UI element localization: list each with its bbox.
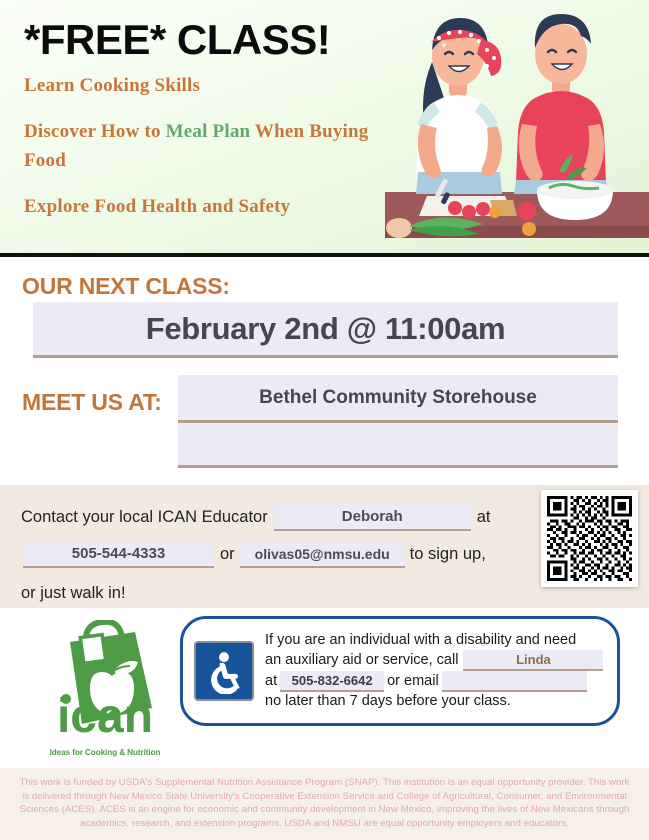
flyer-page: *FREE* CLASS! Learn Cooking Skills Disco… [0,0,649,840]
benefit-item-1: Learn Cooking Skills [24,72,374,101]
contact-walkin-text: or just walk in! [21,585,126,602]
a11y-text-3: at [265,672,277,691]
qr-code[interactable] [541,490,638,587]
meet-us-underline-2 [178,465,618,468]
a11y-contact-phone-field[interactable]: 505-832-6642 [280,671,384,692]
a11y-line-3: at 505-832-6642 or email [265,671,603,692]
accessibility-notice-box: If you are an individual with a disabili… [180,616,620,726]
wheelchair-accessible-icon [194,641,254,701]
a11y-line-1: If you are an individual with a disabili… [265,631,603,650]
benefit-text-2-accent: Meal Plan [166,121,251,142]
header-section: *FREE* CLASS! Learn Cooking Skills Disco… [0,0,649,257]
meet-us-location-field-line2[interactable] [178,423,618,465]
a11y-line-4: no later than 7 days before your class. [265,692,603,711]
a11y-text-1: If you are an individual with a disabili… [265,631,576,650]
meet-us-location-value: Bethel Community Storehouse [259,387,537,409]
contact-or-text: or [220,546,235,563]
a11y-text-3-mid: or email [387,672,439,691]
ican-logo: ican Ideas for Cooking & Nutrition [40,620,170,757]
two-people-cooking-illustration [377,0,649,253]
a11y-text-4: no later than 7 days before your class. [265,692,511,711]
benefit-text-3: Explore Food Health and Safety [24,196,290,217]
educator-name-field[interactable]: Deborah [274,504,471,531]
benefits-list: Learn Cooking Skills Discover How to Mea… [24,72,374,222]
next-class-date-value: February 2nd @ 11:00am [146,311,506,347]
a11y-contact-email-field[interactable] [442,671,587,692]
meet-us-label: MEET US AT: [22,389,162,416]
benefit-text-2-pre: Discover How to [24,121,166,142]
footer-disclaimer-section: This work is funded by USDA's Supplement… [0,768,649,840]
class-info-section: OUR NEXT CLASS: February 2nd @ 11:00am M… [0,257,649,485]
accessibility-text: If you are an individual with a disabili… [265,631,603,712]
meet-us-location-field-group: Bethel Community Storehouse [178,375,618,468]
educator-phone-field[interactable]: 505-544-4333 [23,541,214,568]
svg-text:ican: ican [57,690,153,743]
a11y-text-2: an auxiliary aid or service, call [265,651,458,670]
benefit-item-3: Explore Food Health and Safety [24,193,374,222]
next-class-date-field[interactable]: February 2nd @ 11:00am [33,302,618,358]
contact-line1-post: at [477,509,491,526]
qr-code-graphic [547,496,632,581]
benefit-text-1: Learn Cooking Skills [24,75,200,96]
contact-line1-pre: Contact your local ICAN Educator [21,509,268,526]
page-title: *FREE* CLASS! [24,16,330,64]
contact-line2-post: to sign up, [410,546,486,563]
educator-email-field[interactable]: olivas05@nmsu.edu [240,541,405,568]
benefit-item-2: Discover How to Meal Plan When Buying Fo… [24,118,374,176]
bottom-section: ican Ideas for Cooking & Nutrition If yo… [0,608,649,768]
a11y-contact-name-field[interactable]: Linda [463,650,603,671]
a11y-line-2: an auxiliary aid or service, call Linda [265,650,603,671]
next-class-label: OUR NEXT CLASS: [22,273,230,300]
meet-us-location-field-line1[interactable]: Bethel Community Storehouse [178,375,618,420]
contact-section: Contact your local ICAN Educator Deborah… [0,485,649,608]
footer-disclaimer-text: This work is funded by USDA's Supplement… [18,776,631,830]
ican-tagline: Ideas for Cooking & Nutrition [40,748,170,757]
